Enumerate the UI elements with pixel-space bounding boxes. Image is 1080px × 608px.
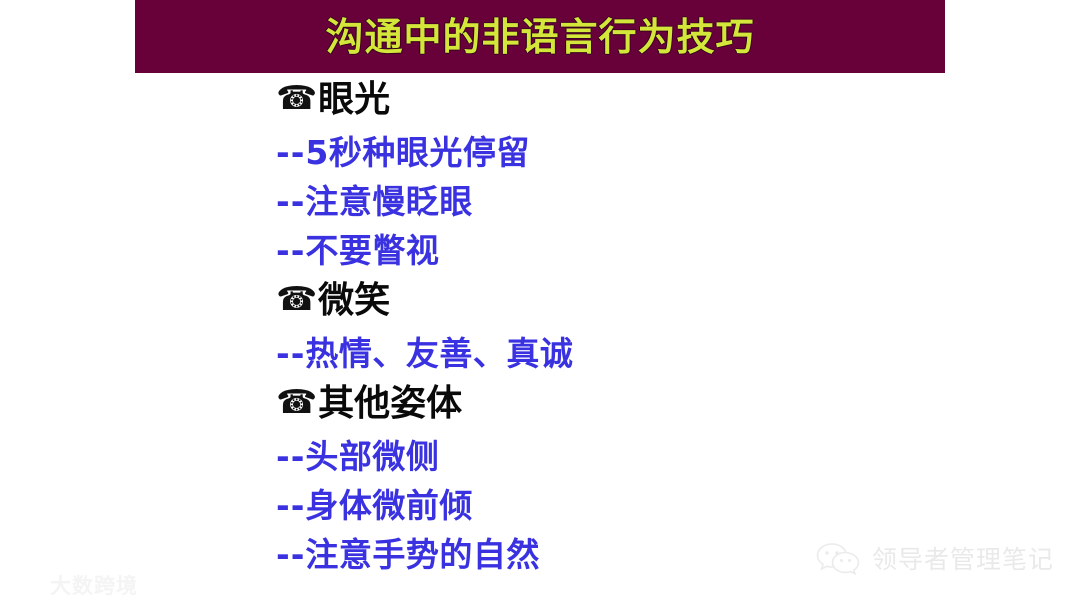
list-item: -- 头部微侧 [276,440,976,489]
list-item: -- 5秒种眼光停留 [276,136,976,185]
slide-title: 沟通中的非语言行为技巧 [325,18,754,56]
list-item: -- 注意慢眨眼 [276,185,976,234]
list-item-label: 头部微侧 [305,440,439,473]
watermark-right: 领导者管理笔记 [816,540,1054,576]
list-item-label: 身体微前倾 [305,489,473,522]
slide-canvas: 沟通中的非语言行为技巧 ☎ 眼光 -- 5秒种眼光停留 -- 注意慢眨眼 -- … [0,0,1080,608]
dash-marker: -- [276,136,305,169]
section-heading: ☎ 微笑 [276,283,976,337]
section-heading: ☎ 眼光 [276,82,976,136]
slide-content: ☎ 眼光 -- 5秒种眼光停留 -- 注意慢眨眼 -- 不要瞥视 ☎ 微笑 --… [276,82,976,587]
dash-marker: -- [276,234,305,267]
dash-marker: -- [276,538,305,571]
watermark-right-label: 领导者管理笔记 [872,540,1054,576]
slide-title-bar: 沟通中的非语言行为技巧 [135,0,945,73]
list-item-label: 5秒种眼光停留 [305,136,529,169]
section-heading-label: 其他姿体 [318,386,462,422]
dash-marker: -- [276,489,305,522]
watermark-left: 大数跨境 [8,570,138,600]
dashu-kuajing-logo-icon [8,573,42,597]
watermark-left-label: 大数跨境 [50,570,138,600]
section-heading-label: 眼光 [318,82,390,118]
list-item-label: 热情、友善、真诚 [305,337,573,370]
list-item: -- 身体微前倾 [276,489,976,538]
wechat-logo-icon [816,541,860,575]
list-item: -- 不要瞥视 [276,234,976,283]
section-heading-label: 微笑 [318,283,390,319]
list-item-label: 注意手势的自然 [305,538,540,571]
list-item-label: 注意慢眨眼 [305,185,473,218]
dash-marker: -- [276,337,305,370]
list-item: -- 热情、友善、真诚 [276,337,976,386]
telephone-icon: ☎ [276,81,317,114]
dash-marker: -- [276,440,305,473]
dash-marker: -- [276,185,305,218]
telephone-icon: ☎ [276,385,317,418]
telephone-icon: ☎ [276,282,317,315]
section-heading: ☎ 其他姿体 [276,386,976,440]
list-item-label: 不要瞥视 [305,234,439,267]
